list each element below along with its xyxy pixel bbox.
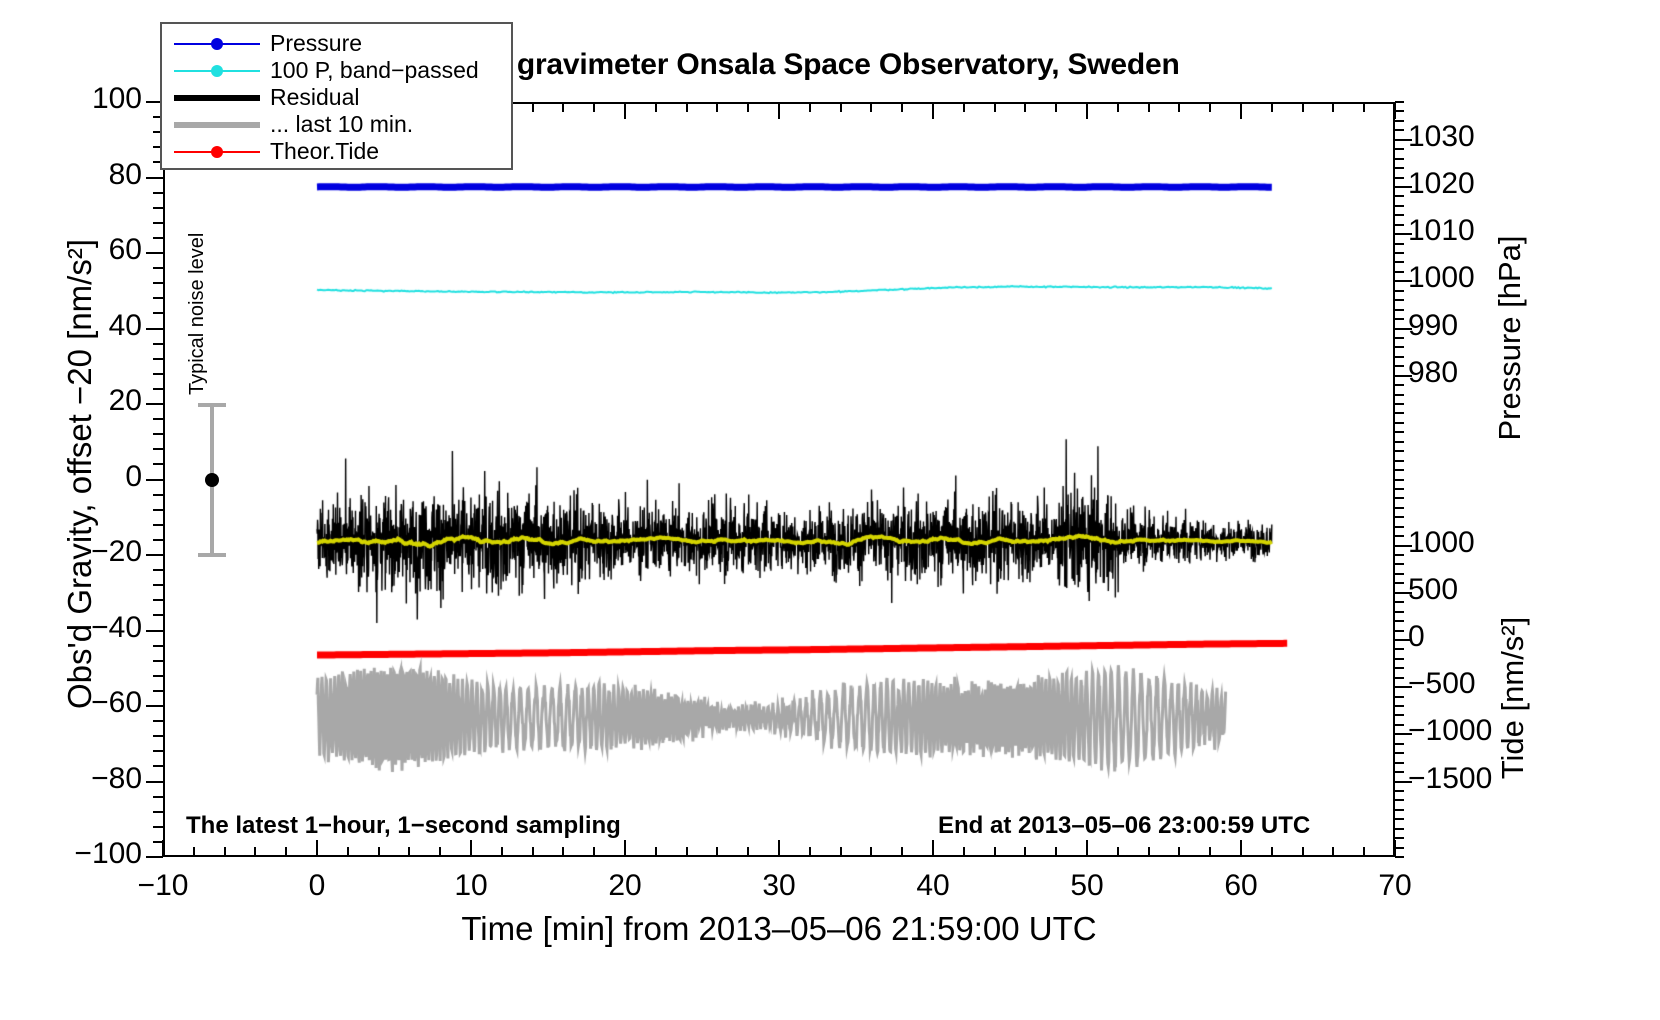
y-tick-pressure-label-4: 990	[1408, 309, 1458, 343]
y-tick-minor-left	[153, 584, 163, 586]
y-tick-minor-right	[1395, 337, 1404, 339]
y-tick-minor-right	[1395, 752, 1404, 754]
y-tick-major-left	[146, 781, 163, 783]
x-tick-minor	[1271, 847, 1273, 857]
x-tick-minor	[1363, 847, 1365, 857]
x-tick-minor-top	[1271, 102, 1273, 112]
legend-item-4[interactable]: Theor.Tide	[162, 138, 511, 165]
y-tick-minor-right	[1395, 252, 1404, 254]
x-tick-minor	[347, 847, 349, 857]
y-tick-major-left	[146, 856, 163, 858]
legend-item-0[interactable]: Pressure	[162, 30, 511, 57]
y-tick-minor-right	[1395, 847, 1404, 849]
y-tick-minor-right	[1395, 309, 1404, 311]
legend-item-label: Residual	[270, 84, 360, 111]
sampling-note: The latest 1−hour, 1−second sampling	[186, 812, 621, 840]
x-tick-minor	[193, 847, 195, 857]
y-tick-minor-right	[1395, 375, 1404, 377]
y-tick-minor-right	[1395, 271, 1404, 273]
legend-swatch-icon	[174, 33, 260, 55]
y-tick-minor-right	[1395, 403, 1404, 405]
x-tick-minor	[686, 847, 688, 857]
legend-marker-dot-icon	[211, 146, 223, 158]
y-tick-major-left	[146, 252, 163, 254]
x-tick-major	[1086, 840, 1088, 857]
y-tick-minor-right	[1395, 648, 1404, 650]
legend-swatch-icon	[174, 114, 260, 136]
y-tick-minor-right	[1395, 771, 1404, 773]
y-tick-minor-right	[1395, 856, 1404, 858]
x-tick-minor-top	[1332, 102, 1334, 112]
y-tick-minor-right	[1395, 365, 1404, 367]
y-tick-minor-left	[153, 509, 163, 511]
x-tick-minor	[1178, 847, 1180, 857]
y-tick-minor-right	[1395, 762, 1404, 764]
y-tick-minor-left	[153, 433, 163, 435]
y-tick-minor-right	[1395, 809, 1404, 811]
x-tick-minor-top	[593, 102, 595, 112]
x-tick-minor	[870, 847, 872, 857]
y-tick-minor-left	[153, 811, 163, 813]
x-tick-major	[624, 840, 626, 857]
x-tick-minor-top	[1178, 102, 1180, 112]
y-tick-minor-right	[1395, 724, 1404, 726]
y-tick-minor-right	[1395, 592, 1404, 594]
typical-noise-level-errorbar	[186, 400, 256, 580]
y-tick-minor-right	[1395, 167, 1404, 169]
x-tick-minor	[1117, 847, 1119, 857]
y-axis-left-title: Obs'd Gravity, offset −20 [nm/s²]	[61, 94, 99, 854]
y-tick-tide-label-4: −1000	[1408, 714, 1492, 748]
x-tick-minor-top	[655, 102, 657, 112]
x-tick-minor-top	[1117, 102, 1119, 112]
y-axis-pressure-title: Pressure [hPa]	[1492, 173, 1528, 503]
end-time-note: End at 2013–05–06 23:00:59 UTC	[938, 812, 1310, 840]
x-tick-minor	[1209, 847, 1211, 857]
y-tick-minor-right	[1395, 290, 1404, 292]
y-tick-major-left	[146, 705, 163, 707]
y-tick-minor-left	[153, 237, 163, 239]
y-tick-pressure-label-5: 980	[1408, 356, 1458, 390]
legend-marker-dot-icon	[211, 38, 223, 50]
y-tick-tide-label-1: 500	[1408, 573, 1458, 607]
y-tick-minor-right	[1395, 346, 1404, 348]
y-tick-tide-label-5: −1500	[1408, 762, 1492, 796]
y-tick-minor-right	[1395, 667, 1404, 669]
y-tick-minor-right	[1395, 261, 1404, 263]
y-tick-minor-right	[1395, 460, 1404, 462]
y-tick-minor-left	[153, 690, 163, 692]
x-tick-minor	[809, 847, 811, 857]
y-tick-minor-left	[153, 614, 163, 616]
x-tick-minor	[562, 847, 564, 857]
y-tick-minor-right	[1395, 394, 1404, 396]
x-tick-major-top	[1240, 102, 1242, 119]
x-tick-minor-top	[686, 102, 688, 112]
x-tick-major	[1240, 840, 1242, 857]
y-tick-minor-right	[1395, 837, 1404, 839]
y-tick-minor-right	[1395, 818, 1404, 820]
y-tick-minor-right	[1395, 573, 1404, 575]
legend-item-label: Pressure	[270, 30, 362, 57]
x-tick-minor	[285, 847, 287, 857]
y-tick-minor-left	[153, 765, 163, 767]
y-tick-major-left	[146, 630, 163, 632]
y-tick-tide-label-3: −500	[1408, 667, 1476, 701]
x-tick-minor	[963, 847, 965, 857]
typical-noise-level-label: Typical noise level	[186, 175, 209, 395]
y-tick-minor-left	[153, 373, 163, 375]
y-tick-minor-right	[1395, 158, 1404, 160]
x-tick-major-top	[1086, 102, 1088, 119]
y-tick-minor-right	[1395, 186, 1404, 188]
y-tick-minor-right	[1395, 516, 1404, 518]
x-tick-minor-top	[1148, 102, 1150, 112]
x-tick-minor	[840, 847, 842, 857]
legend-item-label: ... last 10 min.	[270, 111, 413, 138]
y-tick-minor-right	[1395, 412, 1404, 414]
legend-marker-dot-icon	[211, 65, 223, 77]
legend-item-label: Theor.Tide	[270, 138, 379, 165]
y-tick-minor-right	[1395, 101, 1404, 103]
y-tick-minor-left	[153, 569, 163, 571]
y-tick-minor-left	[153, 312, 163, 314]
y-tick-minor-right	[1395, 129, 1404, 131]
chart-page: SCG_054 gravimeter Onsala Space Observat…	[0, 0, 1660, 1020]
y-tick-minor-right	[1395, 658, 1404, 660]
y-tick-minor-left	[153, 539, 163, 541]
y-tick-minor-right	[1395, 422, 1404, 424]
y-tick-minor-right	[1395, 110, 1404, 112]
y-tick-minor-right	[1395, 781, 1404, 783]
y-tick-minor-right	[1395, 233, 1404, 235]
y-tick-minor-left	[153, 222, 163, 224]
y-tick-minor-right	[1395, 582, 1404, 584]
y-tick-minor-right	[1395, 611, 1404, 613]
y-tick-minor-right	[1395, 686, 1404, 688]
y-tick-minor-left	[153, 645, 163, 647]
y-tick-minor-right	[1395, 677, 1404, 679]
legend-swatch-icon	[174, 87, 260, 109]
y-tick-minor-right	[1395, 195, 1404, 197]
x-tick-minor-top	[840, 102, 842, 112]
y-tick-minor-right	[1395, 601, 1404, 603]
y-tick-minor-right	[1395, 535, 1404, 537]
y-tick-minor-left	[153, 463, 163, 465]
y-tick-minor-right	[1395, 441, 1404, 443]
y-tick-minor-right	[1395, 696, 1404, 698]
x-tick-minor	[224, 847, 226, 857]
y-tick-minor-right	[1395, 620, 1404, 622]
x-tick-major-top	[624, 102, 626, 119]
y-tick-minor-left	[153, 282, 163, 284]
x-tick-minor-top	[1024, 102, 1026, 112]
y-tick-major-left	[146, 554, 163, 556]
y-tick-pressure-label-1: 1020	[1408, 167, 1475, 201]
y-tick-major-left	[146, 403, 163, 405]
y-tick-minor-left	[153, 750, 163, 752]
y-tick-minor-right	[1395, 545, 1404, 547]
x-tick-major	[316, 840, 318, 857]
y-tick-minor-left	[153, 358, 163, 360]
y-tick-minor-right	[1395, 507, 1404, 509]
y-tick-minor-left	[153, 660, 163, 662]
x-tick-minor-top	[994, 102, 996, 112]
x-tick-minor	[1024, 847, 1026, 857]
y-tick-minor-right	[1395, 299, 1404, 301]
x-tick-label-1: 0	[257, 869, 377, 903]
y-tick-minor-left	[153, 826, 163, 828]
y-tick-minor-right	[1395, 328, 1404, 330]
legend: Pressure100 P, band−passedResidual... la…	[160, 22, 513, 170]
x-tick-minor	[1148, 847, 1150, 857]
x-tick-minor	[716, 847, 718, 857]
legend-line	[174, 122, 260, 128]
y-tick-minor-left	[153, 735, 163, 737]
x-tick-minor-top	[562, 102, 564, 112]
y-tick-minor-right	[1395, 630, 1404, 632]
y-tick-minor-left	[153, 841, 163, 843]
x-tick-label-4: 30	[719, 869, 839, 903]
x-tick-minor-top	[870, 102, 872, 112]
y-tick-minor-right	[1395, 280, 1404, 282]
x-tick-minor	[994, 847, 996, 857]
y-tick-minor-right	[1395, 384, 1404, 386]
y-tick-minor-right	[1395, 743, 1404, 745]
plot-canvas	[165, 104, 1393, 855]
y-tick-minor-left	[153, 207, 163, 209]
x-tick-minor-top	[901, 102, 903, 112]
x-tick-major-top	[778, 102, 780, 119]
x-tick-minor	[593, 847, 595, 857]
x-tick-minor-top	[1363, 102, 1365, 112]
x-tick-minor-top	[809, 102, 811, 112]
y-tick-tide-label-2: 0	[1408, 620, 1425, 654]
y-tick-minor-right	[1395, 799, 1404, 801]
x-tick-minor-top	[747, 102, 749, 112]
y-tick-minor-left	[153, 524, 163, 526]
legend-item-label: 100 P, band−passed	[270, 57, 479, 84]
x-tick-minor	[501, 847, 503, 857]
y-tick-minor-right	[1395, 148, 1404, 150]
y-tick-minor-left	[153, 675, 163, 677]
y-tick-pressure-label-3: 1000	[1408, 261, 1475, 295]
y-tick-minor-right	[1395, 554, 1404, 556]
y-tick-minor-right	[1395, 488, 1404, 490]
y-tick-minor-right	[1395, 356, 1404, 358]
y-tick-minor-right	[1395, 450, 1404, 452]
x-tick-major	[932, 840, 934, 857]
y-tick-minor-right	[1395, 214, 1404, 216]
y-tick-tide-label-0: 1000	[1408, 526, 1475, 560]
x-tick-label-5: 40	[873, 869, 993, 903]
y-tick-minor-right	[1395, 205, 1404, 207]
legend-swatch-icon	[174, 141, 260, 163]
y-tick-minor-right	[1395, 828, 1404, 830]
x-tick-minor-top	[1302, 102, 1304, 112]
x-tick-minor	[408, 847, 410, 857]
x-tick-minor	[532, 847, 534, 857]
y-tick-pressure-label-2: 1010	[1408, 214, 1475, 248]
x-tick-minor	[1302, 847, 1304, 857]
x-tick-label-6: 50	[1027, 869, 1147, 903]
x-tick-major-top	[932, 102, 934, 119]
x-tick-minor	[254, 847, 256, 857]
legend-swatch-icon	[174, 60, 260, 82]
y-tick-minor-right	[1395, 790, 1404, 792]
y-tick-minor-right	[1395, 243, 1404, 245]
y-tick-minor-left	[153, 297, 163, 299]
legend-item-1[interactable]: 100 P, band−passed	[162, 57, 511, 84]
y-tick-minor-right	[1395, 714, 1404, 716]
y-tick-major-left	[146, 479, 163, 481]
x-tick-minor-top	[1209, 102, 1211, 112]
y-tick-minor-left	[153, 448, 163, 450]
legend-item-2[interactable]: Residual	[162, 84, 511, 111]
y-tick-minor-right	[1395, 479, 1404, 481]
legend-line	[174, 95, 260, 101]
x-tick-minor	[1332, 847, 1334, 857]
x-tick-major	[470, 840, 472, 857]
y-tick-minor-right	[1395, 497, 1404, 499]
y-tick-minor-left	[153, 494, 163, 496]
x-axis-title: Time [min] from 2013–05–06 21:59:00 UTC	[163, 910, 1395, 948]
y-tick-minor-left	[153, 720, 163, 722]
y-axis-tide-title: Tide [nm/s²]	[1495, 538, 1531, 858]
x-tick-minor-top	[963, 102, 965, 112]
y-tick-minor-right	[1395, 563, 1404, 565]
y-tick-pressure-label-0: 1030	[1408, 120, 1475, 154]
x-tick-minor-top	[716, 102, 718, 112]
x-tick-major	[778, 840, 780, 857]
y-tick-minor-left	[153, 388, 163, 390]
y-tick-minor-right	[1395, 639, 1404, 641]
x-tick-minor	[439, 847, 441, 857]
y-tick-minor-left	[153, 267, 163, 269]
x-tick-minor-top	[1055, 102, 1057, 112]
x-tick-label-7: 60	[1181, 869, 1301, 903]
y-tick-minor-right	[1395, 733, 1404, 735]
y-tick-minor-left	[153, 796, 163, 798]
x-tick-label-2: 10	[411, 869, 531, 903]
y-tick-minor-right	[1395, 526, 1404, 528]
x-tick-minor-top	[532, 102, 534, 112]
y-tick-minor-right	[1395, 120, 1404, 122]
y-tick-major-left	[146, 177, 163, 179]
y-tick-minor-right	[1395, 224, 1404, 226]
x-tick-label-0: −10	[103, 869, 223, 903]
x-tick-minor	[1055, 847, 1057, 857]
x-tick-minor	[655, 847, 657, 857]
plot-area	[163, 102, 1395, 857]
y-tick-minor-right	[1395, 177, 1404, 179]
y-tick-minor-right	[1395, 139, 1404, 141]
y-tick-minor-left	[153, 599, 163, 601]
y-tick-minor-right	[1395, 431, 1404, 433]
legend-item-3[interactable]: ... last 10 min.	[162, 111, 511, 138]
x-tick-minor	[747, 847, 749, 857]
y-tick-minor-right	[1395, 318, 1404, 320]
y-tick-minor-left	[153, 418, 163, 420]
x-tick-label-8: 70	[1335, 869, 1455, 903]
y-tick-minor-left	[153, 192, 163, 194]
x-tick-label-3: 20	[565, 869, 685, 903]
y-tick-minor-right	[1395, 705, 1404, 707]
y-tick-minor-right	[1395, 469, 1404, 471]
y-tick-minor-left	[153, 343, 163, 345]
x-tick-minor	[901, 847, 903, 857]
y-tick-major-left	[146, 328, 163, 330]
x-tick-minor	[378, 847, 380, 857]
